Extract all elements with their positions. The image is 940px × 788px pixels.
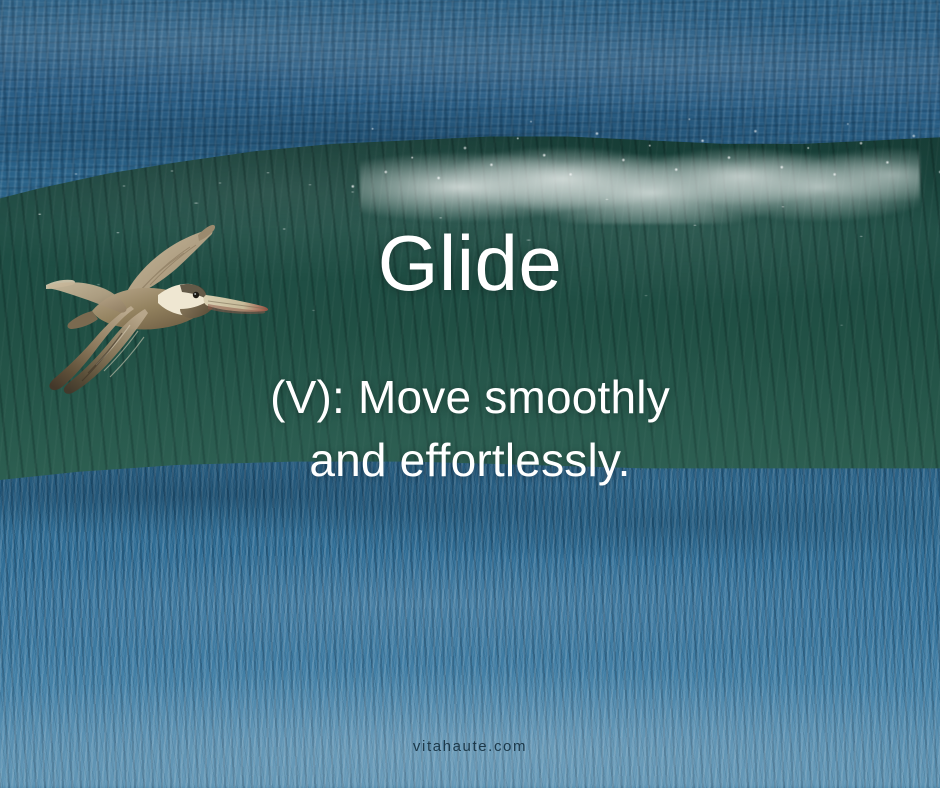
definition-text: (V): Move smoothly and effortlessly. — [0, 366, 940, 491]
definition-line-2: and effortlessly. — [0, 429, 940, 492]
quote-card: Glide (V): Move smoothly and effortlessl… — [0, 0, 940, 788]
site-watermark: vitahaute.com — [0, 738, 940, 755]
definition-line-1: (V): Move smoothly — [0, 366, 940, 429]
text-overlay: Glide (V): Move smoothly and effortlessl… — [0, 0, 940, 788]
page-title: Glide — [0, 224, 940, 302]
